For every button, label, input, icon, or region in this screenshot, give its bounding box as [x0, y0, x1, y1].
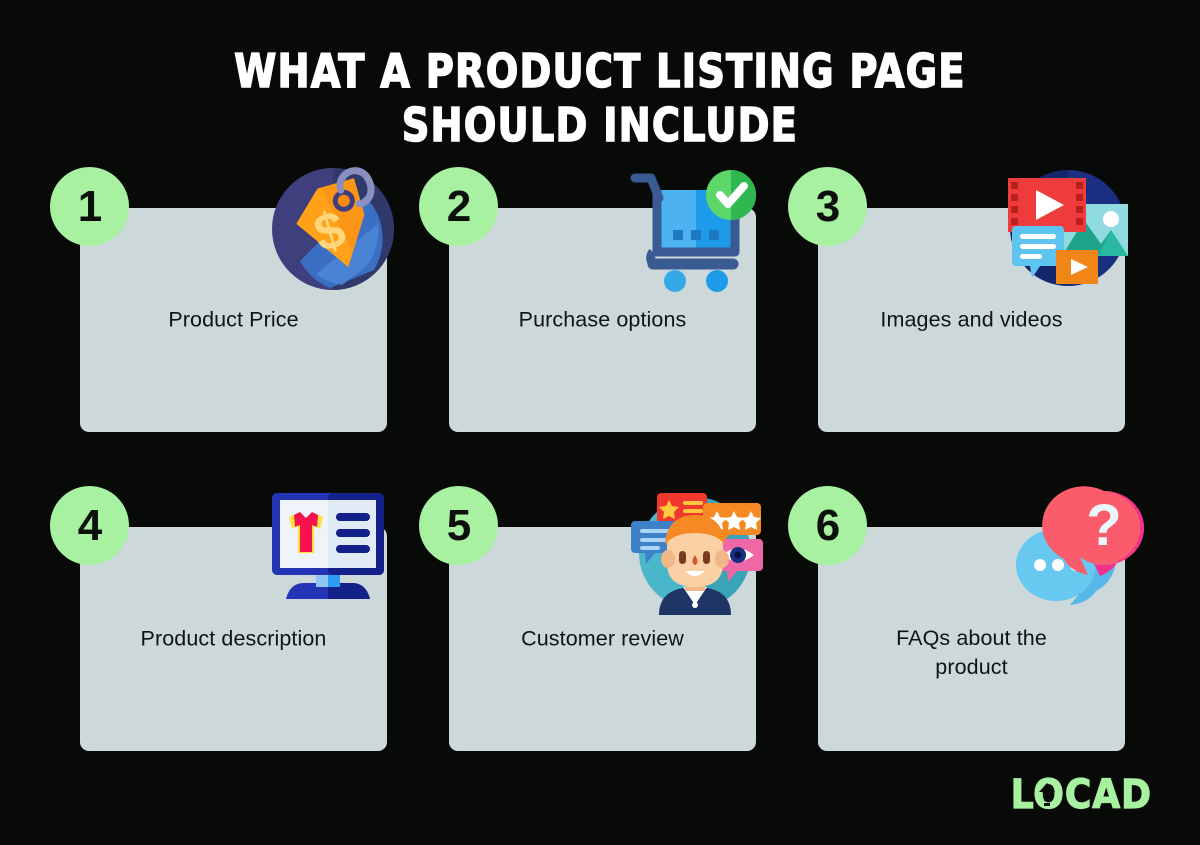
card-grid: Product Price 1 $ — [80, 208, 1120, 751]
number-badge-3: 3 — [788, 167, 867, 246]
number-badge-label: 5 — [447, 504, 470, 548]
card-2[interactable]: Purchase options 2 — [449, 208, 756, 432]
locad-logo[interactable]: LOCAD — [1011, 775, 1152, 815]
infographic-canvas: WHAT A PRODUCT LISTING PAGE SHOULD INCLU… — [0, 0, 1200, 845]
number-badge-6: 6 — [788, 486, 867, 565]
card-body: Customer review — [449, 527, 756, 751]
number-badge-1: 1 — [50, 167, 129, 246]
number-badge-2: 2 — [419, 167, 498, 246]
number-badge-4: 4 — [50, 486, 129, 565]
number-badge-5: 5 — [419, 486, 498, 565]
card-body: Product description — [80, 527, 387, 751]
card-label: Product description — [141, 625, 327, 654]
card-body: Purchase options — [449, 208, 756, 432]
card-1[interactable]: Product Price 1 $ — [80, 208, 387, 432]
title-line-2: SHOULD INCLUDE — [48, 98, 1152, 152]
card-3[interactable]: Images and videos 3 — [818, 208, 1125, 432]
number-badge-label: 1 — [78, 185, 101, 229]
card-body: Images and videos — [818, 208, 1125, 432]
number-badge-label: 2 — [447, 185, 470, 229]
logo-text: LOCAD — [1011, 772, 1152, 818]
title-line-1: WHAT A PRODUCT LISTING PAGE — [48, 44, 1152, 98]
number-badge-label: 6 — [816, 504, 839, 548]
card-4[interactable]: Product description 4 — [80, 527, 387, 751]
card-label: FAQs about the product — [882, 624, 1062, 682]
card-label: Customer review — [521, 625, 684, 654]
logo-arrow-icon — [1038, 782, 1056, 808]
card-5[interactable]: Customer review 5 — [449, 527, 756, 751]
card-6[interactable]: FAQs about the product 6 — [818, 527, 1125, 751]
card-label: Product Price — [168, 306, 298, 335]
number-badge-label: 3 — [816, 185, 839, 229]
card-label: Purchase options — [519, 306, 687, 335]
card-body: Product Price — [80, 208, 387, 432]
card-label: Images and videos — [880, 306, 1062, 335]
card-body: FAQs about the product — [818, 527, 1125, 751]
number-badge-label: 4 — [78, 504, 101, 548]
page-title: WHAT A PRODUCT LISTING PAGE SHOULD INCLU… — [0, 44, 1200, 152]
logo-wordmark: LOCAD — [1011, 775, 1152, 815]
